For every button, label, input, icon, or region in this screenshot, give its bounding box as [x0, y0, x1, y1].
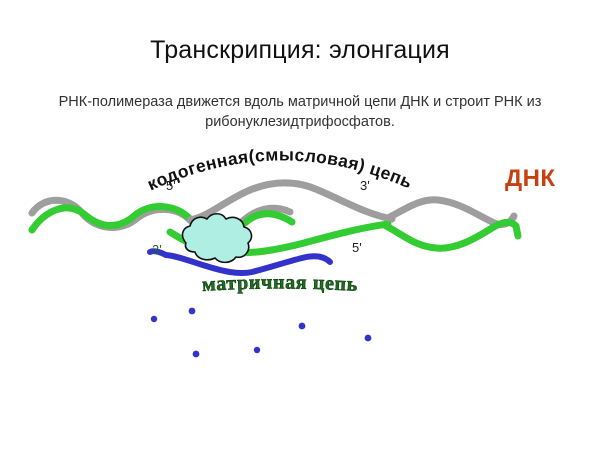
coding-strand-label: кодогенная(смысловая) цепь — [144, 144, 415, 194]
end-label-top-right: 3' — [360, 178, 370, 193]
transcription-diagram: кодогенная(смысловая) цепь матричная цеп… — [0, 0, 600, 450]
slide-canvas: Транскрипция: элонгация РНК-полимераза д… — [0, 0, 600, 450]
end-label-bottom-left: 3' — [152, 242, 162, 257]
nucleotide-dots — [151, 308, 372, 358]
end-label-top-left: 5' — [166, 178, 176, 193]
end-label-bottom-right: 5' — [352, 240, 362, 255]
template-strand-label: матричная цепь — [201, 271, 358, 295]
nucleotide-dot — [254, 347, 260, 353]
rna-polymerase-blob — [183, 214, 252, 263]
nucleotide-dot — [365, 335, 372, 342]
nucleotide-dot — [193, 351, 200, 358]
coding-strand-right — [388, 200, 514, 225]
rna-strand — [166, 255, 330, 273]
dna-label: ДНК — [505, 165, 556, 193]
nucleotide-dot — [299, 323, 306, 330]
template-strand-right — [386, 222, 518, 248]
nucleotide-dot — [151, 316, 157, 322]
nucleotide-dot — [189, 308, 196, 315]
